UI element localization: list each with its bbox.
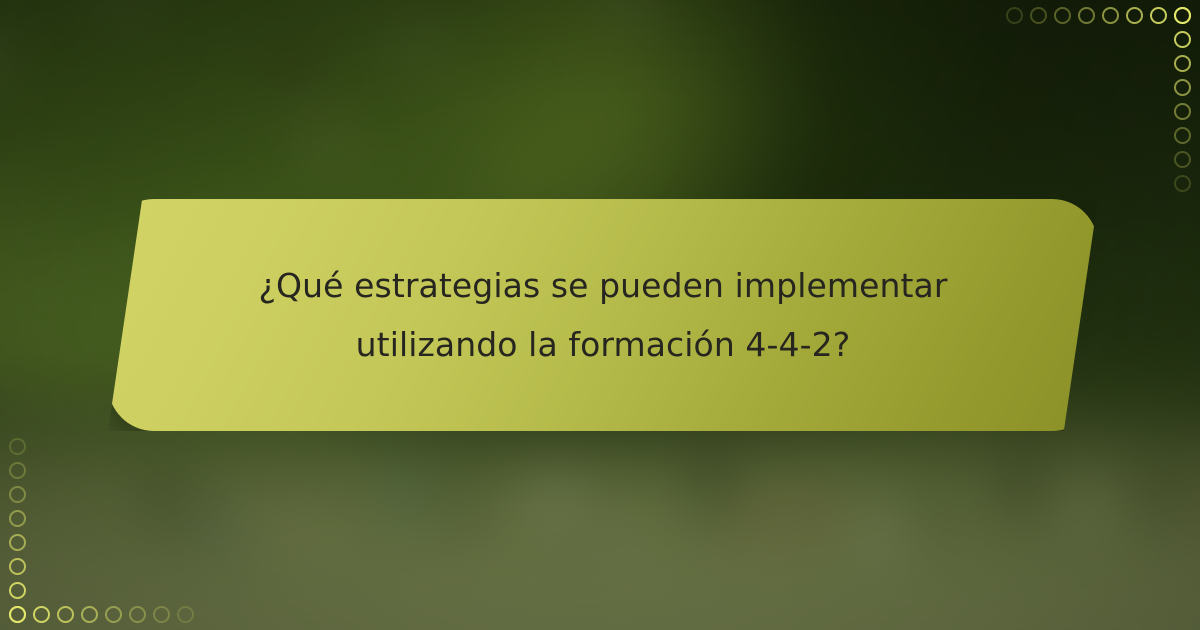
- dot-icon: [1030, 7, 1047, 24]
- dot-icon: [9, 558, 26, 575]
- dot-icon: [1102, 7, 1119, 24]
- dot-icon: [9, 510, 26, 527]
- dot-icon: [177, 606, 194, 623]
- dot-icon: [1006, 7, 1023, 24]
- dot-icon: [153, 606, 170, 623]
- dot-icon: [1126, 7, 1143, 24]
- dot-icon: [1174, 55, 1191, 72]
- dot-icon: [9, 606, 26, 623]
- dot-icon: [1054, 7, 1071, 24]
- dot-column-top-right: [1174, 7, 1191, 199]
- dot-icon: [1174, 79, 1191, 96]
- dot-icon: [57, 606, 74, 623]
- dot-icon: [1150, 7, 1167, 24]
- dot-icon: [1078, 7, 1095, 24]
- dot-icon: [129, 606, 146, 623]
- dot-icon: [1174, 7, 1191, 24]
- dot-icon: [9, 534, 26, 551]
- question-card: ¿Qué estrategias se pueden implementar u…: [108, 199, 1098, 431]
- dot-icon: [9, 486, 26, 503]
- dot-icon: [1174, 151, 1191, 168]
- dot-column-bottom-left: [9, 431, 26, 623]
- question-text: ¿Qué estrategias se pueden implementar u…: [258, 256, 947, 375]
- dot-row-bottom-left: [9, 606, 201, 623]
- dot-icon: [1174, 31, 1191, 48]
- dot-icon: [1174, 103, 1191, 120]
- dot-icon: [33, 606, 50, 623]
- dot-row-top-right: [999, 7, 1191, 24]
- dot-icon: [81, 606, 98, 623]
- dot-icon: [1174, 127, 1191, 144]
- dot-icon: [9, 582, 26, 599]
- dot-icon: [105, 606, 122, 623]
- dot-icon: [9, 438, 26, 455]
- poster-canvas: ¿Qué estrategias se pueden implementar u…: [0, 0, 1200, 630]
- dot-icon: [9, 462, 26, 479]
- question-card-content: ¿Qué estrategias se pueden implementar u…: [108, 199, 1098, 431]
- dot-icon: [1174, 175, 1191, 192]
